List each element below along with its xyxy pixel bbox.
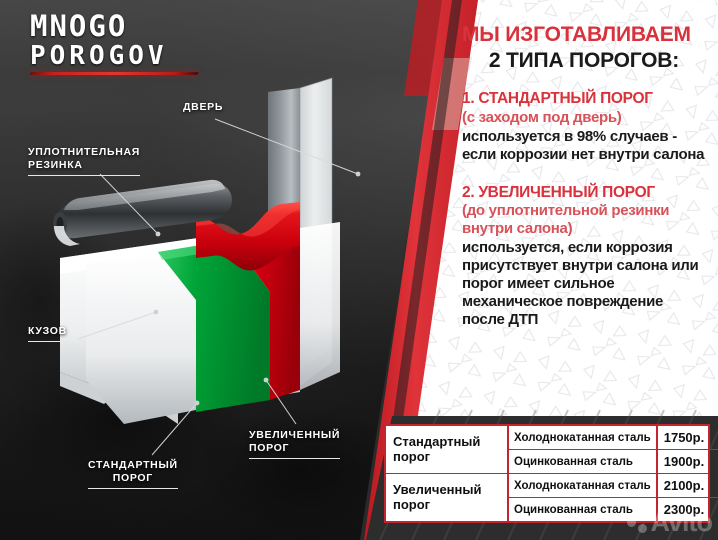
price-table: Стандартный порог Холоднокатанная сталь … [384,424,710,523]
price-item-value: 2300р. [658,498,718,521]
type-block-increased: 2. УВЕЛИЧЕННЫЙ ПОРОГ (до уплотнительной … [462,184,706,330]
price-row-name: Увеличенный порог [386,474,509,521]
headline-primary: МЫ ИЗГОТАВЛИВАЕМ [462,24,706,47]
type-block-increased-subtitle: (до уплотнительной резинки внутри салона… [462,202,706,238]
price-item-value: 2100р. [658,474,718,497]
brand-logo: MNOGO POROGOV [30,12,220,75]
price-item-material: Холоднокатанная сталь [509,426,658,449]
brand-logo-line2: POROGOV [30,43,220,69]
brand-logo-line1: MNOGO [30,12,220,41]
price-item-value: 1750р. [658,426,718,449]
headline-secondary: 2 ТИПА ПОРОГОВ: [462,49,706,72]
callout-label-increased-sill: УВЕЛИЧЕННЫЙ ПОРОГ [249,429,340,459]
price-row-items: Холоднокатанная сталь 2100р. Оцинкованна… [509,474,718,521]
panel-text-content: МЫ ИЗГОТАВЛИВАЕМ 2 ТИПА ПОРОГОВ: 1. СТАН… [462,24,706,329]
callout-label-seal: УПЛОТНИТЕЛЬНАЯ РЕЗИНКА [28,146,140,176]
price-item: Оцинкованная сталь 2300р. [509,498,718,521]
type-block-increased-body: используется, если коррозия присутствует… [462,239,706,329]
price-item-material: Оцинкованная сталь [509,498,658,521]
price-row-name: Стандартный порог [386,426,509,473]
price-item-material: Холоднокатанная сталь [509,474,658,497]
sill-right-white [300,222,340,390]
price-table-row: Стандартный порог Холоднокатанная сталь … [386,426,708,474]
type-block-increased-title: 2. УВЕЛИЧЕННЫЙ ПОРОГ [462,184,706,202]
type-block-standard: 1. СТАНДАРТНЫЙ ПОРОГ (с заходом под двер… [462,90,706,164]
price-item: Холоднокатанная сталь 1750р. [509,426,718,450]
type-block-standard-title: 1. СТАНДАРТНЫЙ ПОРОГ [462,90,706,108]
price-item-material: Оцинкованная сталь [509,450,658,473]
callout-label-body: КУЗОВ [28,325,67,342]
callout-label-standard-sill: СТАНДАРТНЫЙ ПОРОГ [88,459,178,489]
callout-label-door: ДВЕРЬ [183,101,223,114]
price-item: Оцинкованная сталь 1900р. [509,450,718,473]
type-block-standard-body: используется в 98% случаев - если корроз… [462,128,706,164]
poster-root: ДВЕРЬ УПЛОТНИТЕЛЬНАЯ РЕЗИНКА КУЗОВ СТАНД… [0,0,718,540]
type-block-standard-subtitle: (с заходом под дверь) [462,109,706,127]
price-table-row: Увеличенный порог Холоднокатанная сталь … [386,474,708,521]
price-item-value: 1900р. [658,450,718,473]
sill-cutaway-illustration [0,0,430,540]
price-row-items: Холоднокатанная сталь 1750р. Оцинкованна… [509,426,718,473]
brand-logo-underline [29,72,199,75]
price-item: Холоднокатанная сталь 2100р. [509,474,718,498]
